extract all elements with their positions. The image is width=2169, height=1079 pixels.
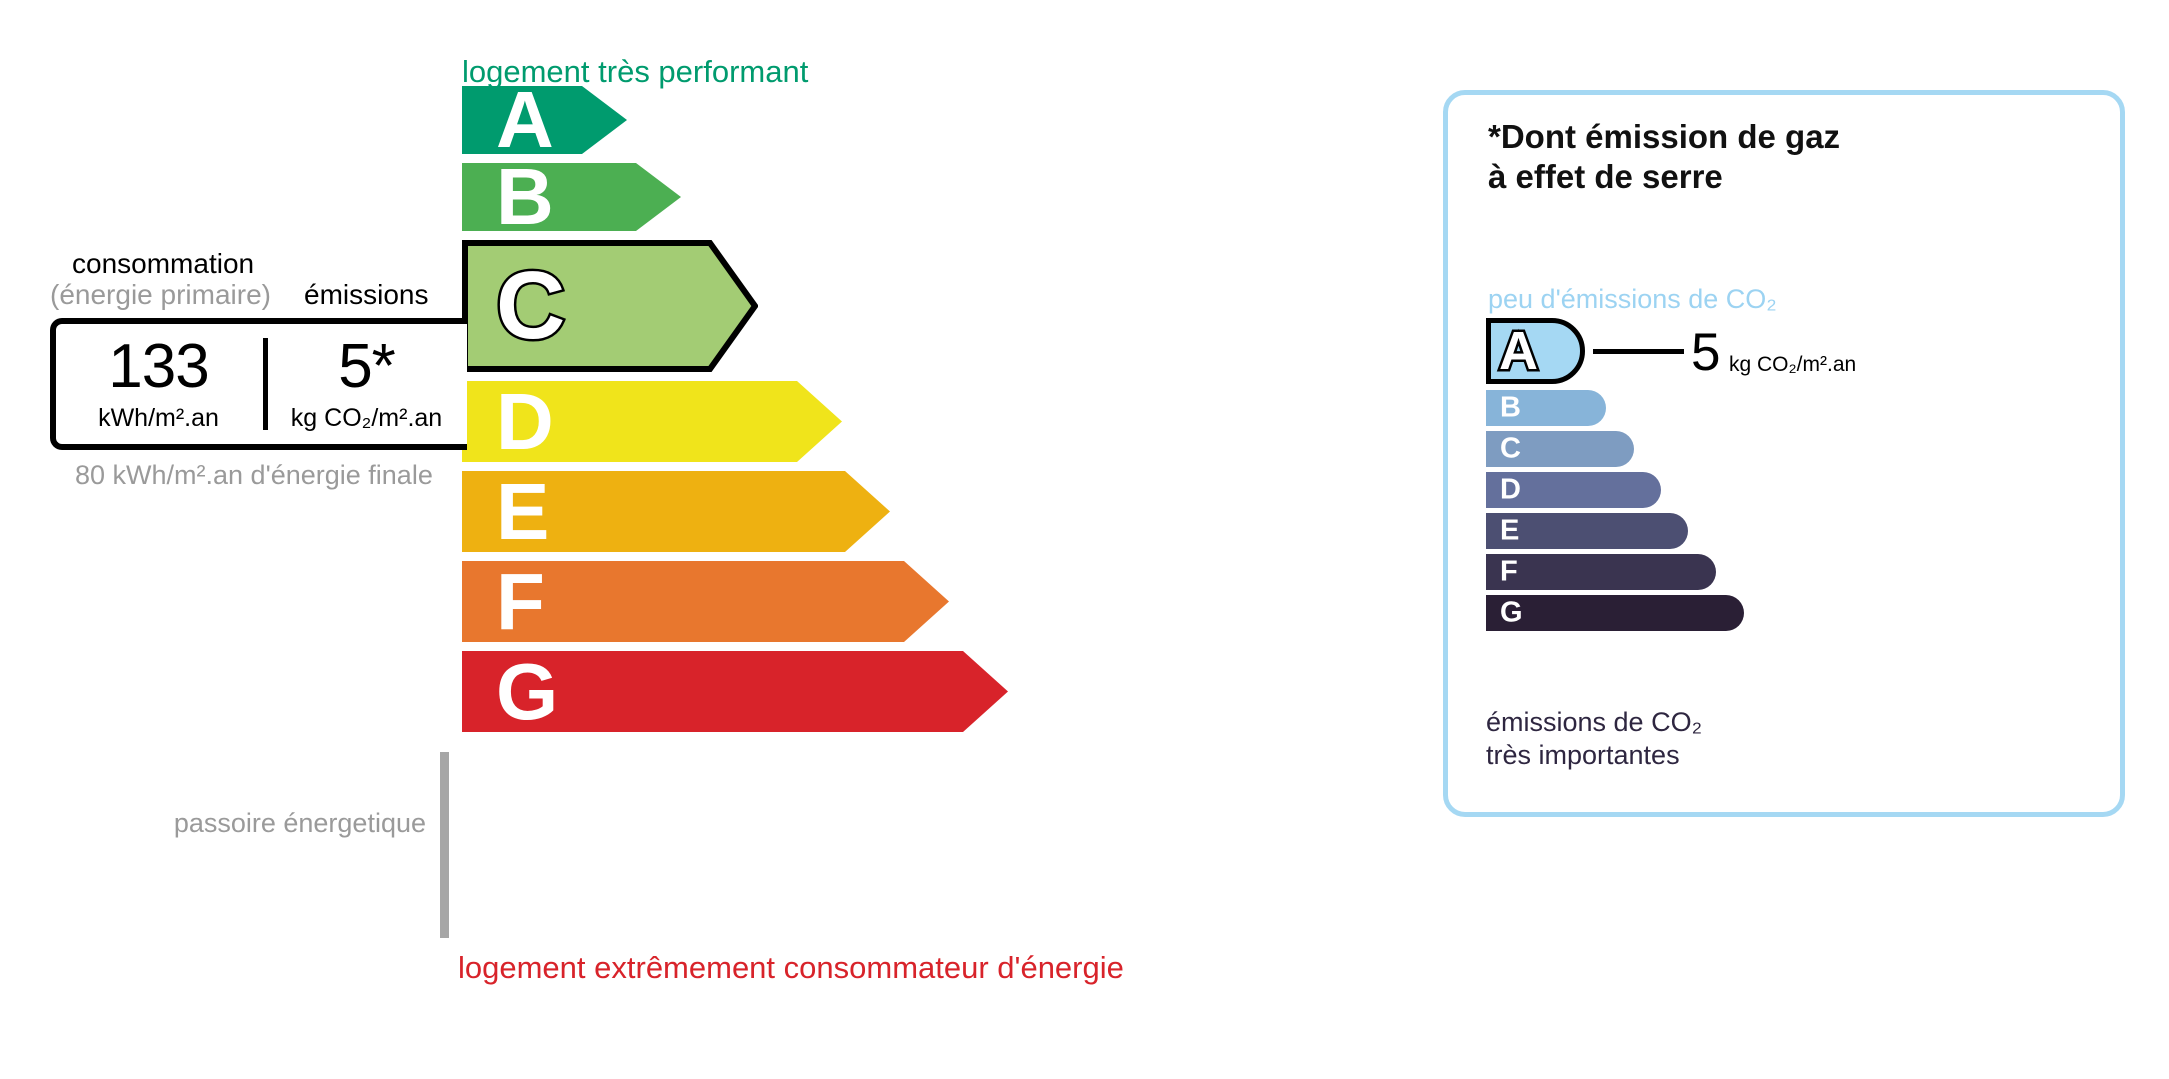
- co2-class-letter-f: F: [1500, 558, 1518, 587]
- co2-bar-fill-g: [1486, 595, 1744, 631]
- co2-bar-fill-f: [1486, 554, 1716, 590]
- final-energy-note: 80 kWh/m².an d'énergie finale: [75, 458, 433, 493]
- consumption-unit: kWh/m².an: [98, 404, 219, 433]
- scale-bottom-caption: logement extrêmement consommateur d'éner…: [458, 950, 1124, 986]
- co2-bottom-caption: émissions de CO₂ très importantes: [1486, 706, 1702, 772]
- co2-top-caption: peu d'émissions de CO₂: [1488, 284, 1777, 315]
- energy-class-bar-g: G: [462, 651, 1008, 732]
- emissions-header-label: émissions: [304, 279, 428, 311]
- co2-emissions-panel: *Dont émission de gaz à effet de serre p…: [1443, 90, 2125, 817]
- co2-panel-title: *Dont émission de gaz à effet de serre: [1488, 117, 1840, 198]
- consumption-value-cell: 133 kWh/m².an: [56, 324, 261, 444]
- co2-class-letter-c: C: [1500, 435, 1521, 464]
- emissions-value-cell: 5* kg CO₂/m².an: [269, 324, 464, 444]
- consumption-value: 133: [108, 336, 208, 398]
- energy-consumption-scale: logement très performant ABCDEFG consomm…: [0, 0, 1400, 1079]
- co2-current-class-letter: A: [1499, 324, 1538, 378]
- co2-value: 5: [1691, 326, 1720, 379]
- result-value-box: 133 kWh/m².an 5* kg CO₂/m².an: [50, 318, 467, 450]
- energy-class-bar-b: B: [462, 163, 681, 231]
- co2-class-letter-g: G: [1500, 599, 1523, 628]
- scale-top-caption: logement très performant: [462, 54, 808, 90]
- primary-energy-header-label: (énergie primaire): [50, 279, 271, 311]
- energy-class-bar-c: C: [462, 240, 758, 372]
- energy-class-bar-e: E: [462, 471, 890, 552]
- consumption-header-label: consommation: [72, 248, 254, 280]
- co2-class-letter-d: D: [1500, 476, 1521, 505]
- co2-leader-line: [1593, 349, 1684, 354]
- result-box-divider: [263, 338, 268, 430]
- emissions-value: 5*: [338, 336, 395, 398]
- energy-class-bar-a: A: [462, 86, 627, 154]
- co2-value-unit: kg CO₂/m².an: [1729, 353, 1856, 377]
- passoire-bracket: [440, 752, 449, 938]
- co2-class-letter-e: E: [1500, 517, 1519, 546]
- emissions-unit: kg CO₂/m².an: [291, 404, 442, 433]
- passoire-energetique-note: passoire énergetique: [170, 806, 426, 841]
- energy-class-bar-f: F: [462, 561, 949, 642]
- energy-class-bar-d: D: [462, 381, 842, 462]
- co2-class-letter-b: B: [1500, 394, 1521, 423]
